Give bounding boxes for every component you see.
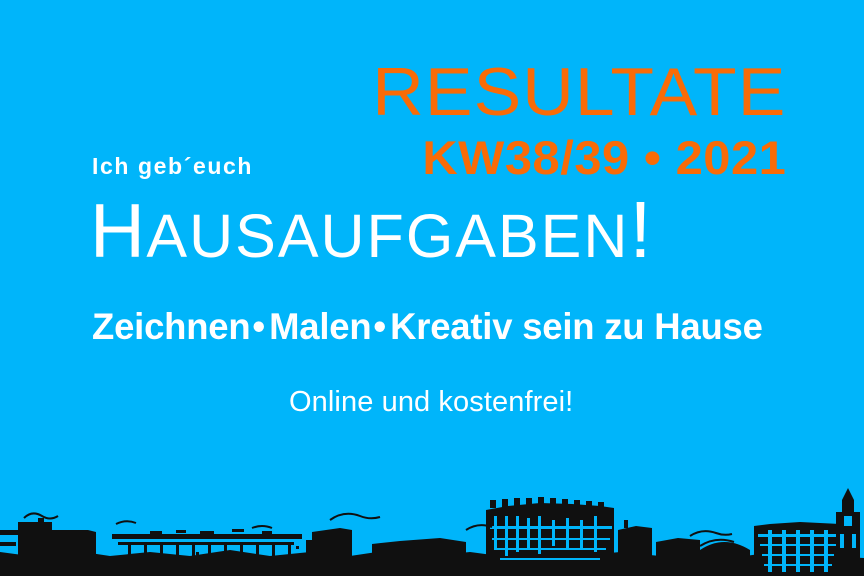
edition-label: KW38/39 • 2021 (376, 134, 786, 181)
subtitle-part-1: Zeichnen (92, 306, 250, 347)
page-title: HAUSAUFGABEN! (90, 190, 652, 270)
title-smallcaps: AUSAUFGABEN (146, 202, 629, 270)
headline-block: RESULTATE KW38/39 • 2021 (392, 58, 786, 181)
subtitle-part-2: Malen (269, 306, 371, 347)
subtitle: Zeichnen•Malen•Kreativ sein zu Hause (92, 306, 763, 348)
subtitle-separator-2: • (371, 306, 390, 347)
title-exclamation: ! (629, 185, 651, 274)
subtitle-part-3: Kreativ sein zu Hause (390, 306, 763, 347)
city-skyline-illustration (0, 486, 864, 576)
kicker-text: Ich geb´euch (92, 153, 253, 180)
series-title: RESULTATE (372, 58, 786, 126)
tagline-text: Online und kostenfrei! (289, 386, 573, 419)
poster-canvas: RESULTATE KW38/39 • 2021 Ich geb´euch HA… (0, 0, 864, 576)
subtitle-separator-1: • (250, 306, 269, 347)
title-initial: H (90, 189, 146, 274)
skyline-silhouette (0, 488, 864, 576)
